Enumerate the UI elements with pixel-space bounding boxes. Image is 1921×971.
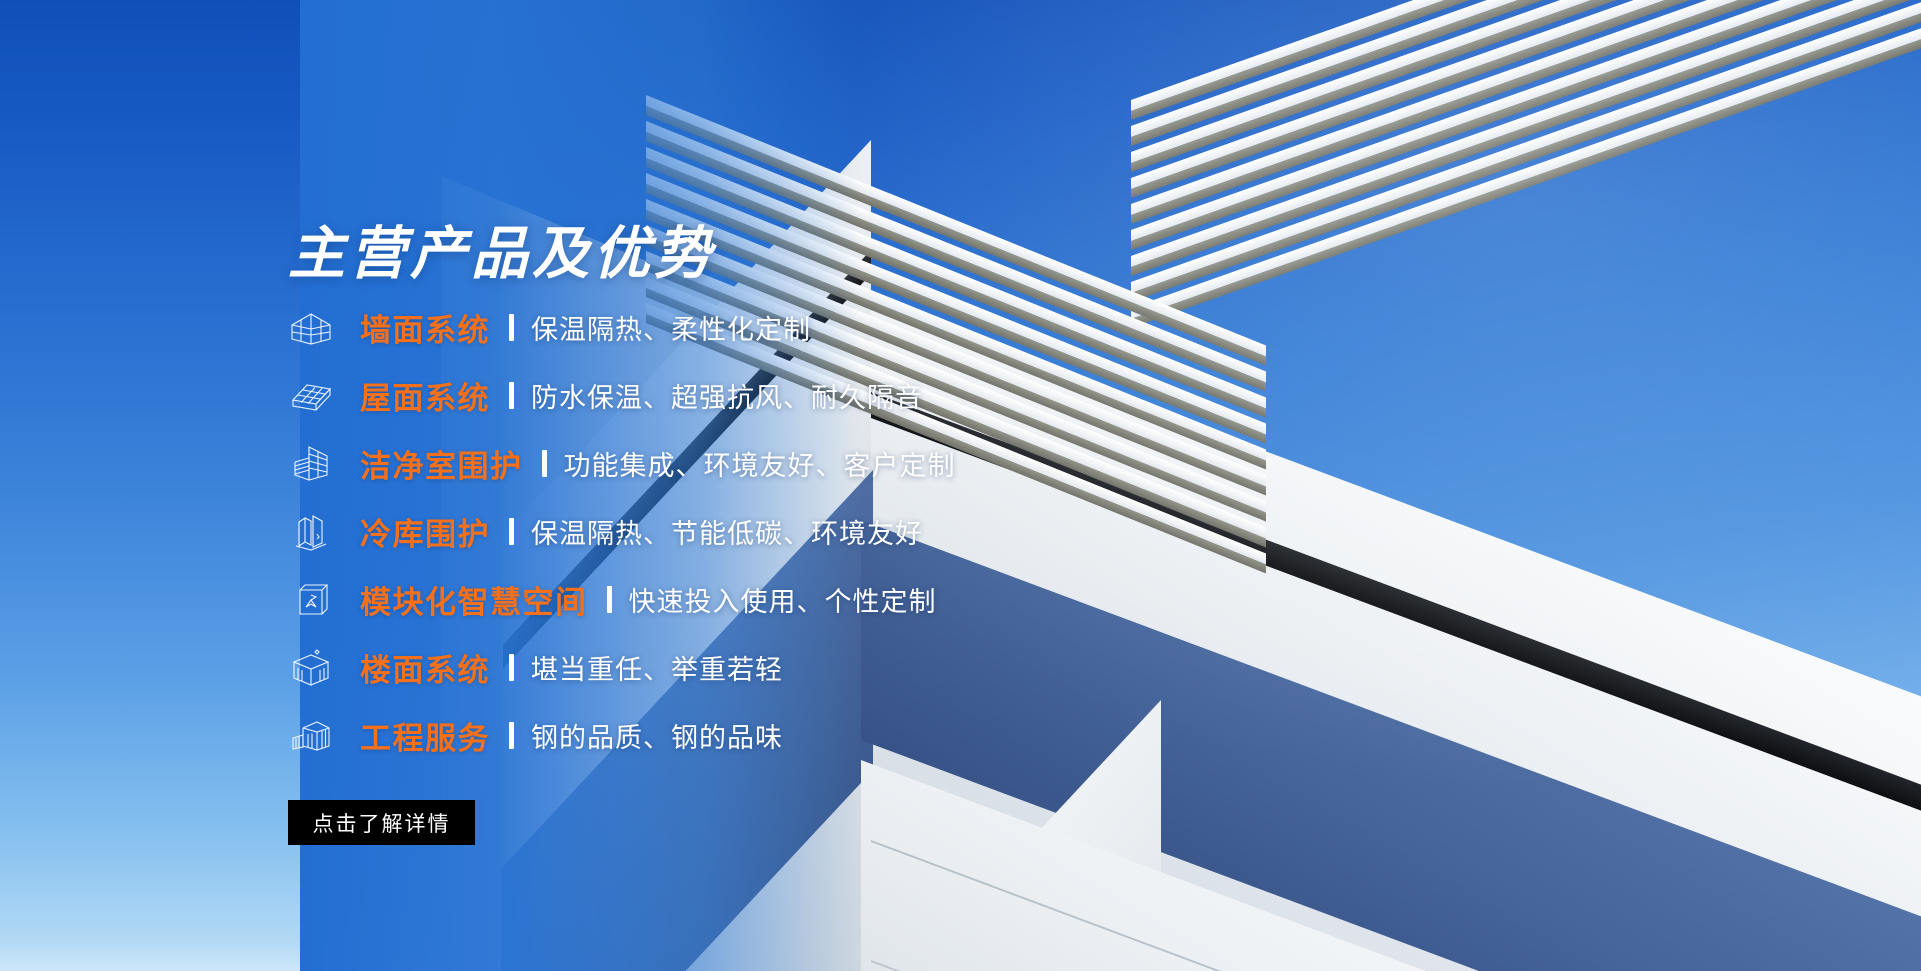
product-name: 屋面系统 bbox=[360, 373, 490, 418]
product-advantage-banner: 主营产品及优势 墙面系统 保温隔热、柔性化定制 bbox=[0, 0, 1921, 971]
product-row[interactable]: 工程服务 钢的品质、钢的品味 bbox=[288, 708, 956, 763]
product-description: 保温隔热、柔性化定制 bbox=[531, 308, 811, 347]
divider-bar bbox=[607, 586, 612, 613]
wall-system-icon bbox=[288, 306, 334, 350]
product-description: 防水保温、超强抗风、耐久隔音 bbox=[531, 376, 923, 415]
learn-more-button-label: 点击了解详情 bbox=[313, 808, 451, 838]
divider-bar bbox=[509, 314, 514, 341]
divider-bar bbox=[509, 382, 514, 409]
product-name: 模块化智慧空间 bbox=[360, 577, 588, 622]
learn-more-button[interactable]: 点击了解详情 bbox=[288, 800, 475, 845]
page-title: 主营产品及优势 bbox=[288, 208, 715, 290]
divider-bar bbox=[509, 722, 514, 749]
divider-bar bbox=[509, 518, 514, 545]
product-row[interactable]: 墙面系统 保温隔热、柔性化定制 bbox=[288, 300, 956, 355]
product-description: 堪当重任、举重若轻 bbox=[531, 648, 783, 687]
floor-system-icon bbox=[288, 646, 334, 690]
product-row[interactable]: 楼面系统 堪当重任、举重若轻 bbox=[288, 640, 956, 695]
divider-bar bbox=[542, 450, 547, 477]
modular-space-icon bbox=[288, 578, 334, 622]
product-row[interactable]: 模块化智慧空间 快速投入使用、个性定制 bbox=[288, 572, 956, 627]
content-area: 主营产品及优势 墙面系统 保温隔热、柔性化定制 bbox=[0, 0, 900, 971]
product-description: 保温隔热、节能低碳、环境友好 bbox=[531, 512, 923, 551]
product-name: 墙面系统 bbox=[360, 305, 490, 350]
divider-bar bbox=[509, 654, 514, 681]
cold-storage-icon bbox=[288, 510, 334, 554]
product-row[interactable]: 屋面系统 防水保温、超强抗风、耐久隔音 bbox=[288, 368, 956, 423]
product-row[interactable]: 冷库围护 保温隔热、节能低碳、环境友好 bbox=[288, 504, 956, 559]
product-row[interactable]: 洁净室围护 功能集成、环境友好、客户定制 bbox=[288, 436, 956, 491]
product-name: 洁净室围护 bbox=[360, 441, 523, 486]
product-name: 楼面系统 bbox=[360, 645, 490, 690]
engineering-service-icon bbox=[288, 714, 334, 758]
product-name: 冷库围护 bbox=[360, 509, 490, 554]
product-name: 工程服务 bbox=[360, 713, 490, 758]
product-description: 钢的品质、钢的品味 bbox=[531, 716, 783, 755]
product-list: 墙面系统 保温隔热、柔性化定制 屋面系统 防水保温、超强抗风、 bbox=[288, 300, 956, 776]
product-description: 快速投入使用、个性定制 bbox=[629, 580, 937, 619]
roof-system-icon bbox=[288, 374, 334, 418]
cleanroom-icon bbox=[288, 442, 334, 486]
product-description: 功能集成、环境友好、客户定制 bbox=[564, 444, 956, 483]
